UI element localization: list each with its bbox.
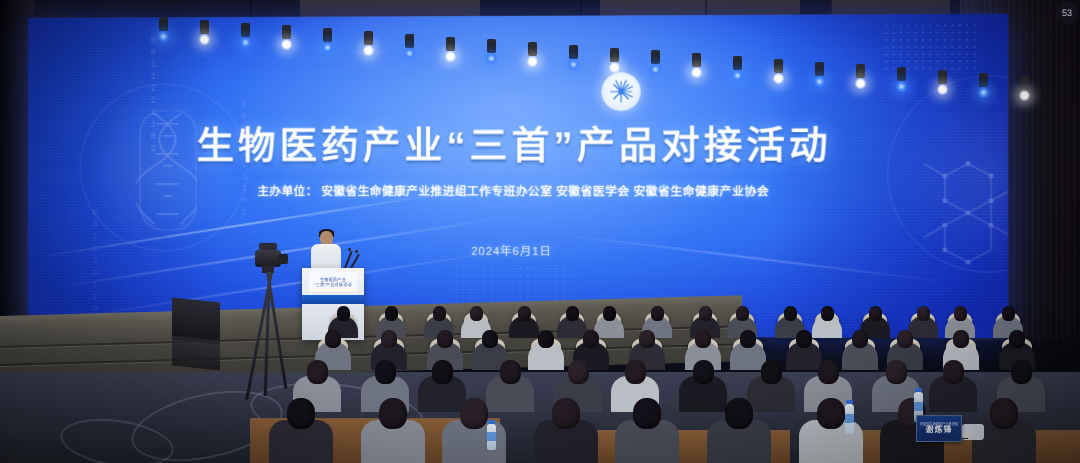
- audience-member-head: [566, 306, 579, 321]
- audience-member-head: [761, 360, 782, 384]
- audience-member-head: [639, 330, 655, 348]
- audience-member-head: [552, 398, 580, 429]
- audience-member-head: [287, 398, 315, 429]
- stage-light-blue: [977, 86, 990, 99]
- stage-light-fixture: [569, 45, 578, 59]
- stage-light-white: [936, 83, 949, 96]
- decor-binary-left-3: 0011221102: [90, 208, 100, 328]
- audience-member-head: [433, 306, 446, 321]
- stage-light-fixture: [159, 17, 168, 31]
- stage-light-white: [526, 55, 539, 68]
- stage-light-blue: [239, 36, 252, 49]
- audience-member-head: [953, 330, 969, 348]
- conference-photo-scene: 0011221102 0011221102 0011221102: [0, 0, 1080, 463]
- audience-member-head: [1011, 360, 1032, 384]
- audience-member-head: [603, 306, 616, 321]
- stage-light-fixture: [897, 67, 906, 81]
- audience-member-head: [943, 360, 964, 384]
- audience-member-head: [1009, 330, 1025, 348]
- audience-member-head: [699, 306, 712, 321]
- audience-member-head: [337, 306, 350, 321]
- stage-light-white: [444, 50, 457, 63]
- audience-member-head: [886, 360, 907, 384]
- placard-name: 谢炼锋: [926, 426, 953, 434]
- audience-member-head: [852, 330, 868, 348]
- stage-light-fixture: [651, 50, 660, 64]
- audience-member-head: [518, 306, 531, 321]
- audience-member-head: [821, 306, 834, 321]
- audience-member-head: [538, 330, 554, 348]
- audience-member-head: [725, 398, 753, 429]
- audience-member-head: [740, 330, 756, 348]
- stage-light-fixture: [528, 42, 537, 56]
- audience-member-head: [625, 360, 646, 384]
- stage-light-fixture: [856, 64, 865, 78]
- stage-light-fixture: [323, 28, 332, 42]
- audience-member-head: [307, 360, 328, 384]
- stage-light-blue: [567, 58, 580, 71]
- audience-member-head: [796, 330, 812, 348]
- audience-member-head: [385, 306, 398, 321]
- audience-member-head: [1002, 306, 1015, 321]
- audience-member-head: [695, 330, 711, 348]
- audience-member-head: [379, 398, 407, 429]
- stage-light-fixture: [774, 59, 783, 73]
- audience-member-head: [693, 360, 714, 384]
- audience-member-head: [784, 306, 797, 321]
- stage-light-white: [1018, 89, 1031, 102]
- stage-light-fixture: [979, 73, 988, 87]
- name-placard: 安徽省生命健康产业推进组 谢炼锋: [916, 415, 962, 442]
- watermark-text: 53: [1062, 8, 1072, 18]
- audience-member-head: [990, 398, 1018, 429]
- audience-member-head: [568, 360, 589, 384]
- audience-member-head: [470, 306, 483, 321]
- audience-member-head: [583, 330, 599, 348]
- stage-light-white: [362, 44, 375, 57]
- event-organizers: 主办单位： 安徽省生命健康产业推进组工作专班办公室 安徽省医学会 安徽省生命健康…: [28, 183, 1008, 200]
- audience-member-head: [869, 306, 882, 321]
- audience-member-head: [897, 330, 913, 348]
- camera-lens: [278, 254, 288, 264]
- bottle-label: [845, 414, 854, 423]
- stage-light-fixture: [733, 56, 742, 70]
- audience-member-head: [437, 330, 453, 348]
- bottle-cap: [846, 400, 853, 404]
- stage-light-fixture: [364, 31, 373, 45]
- podium-sign-line2: “三首”产品对接活动: [314, 283, 352, 287]
- audience-member-head: [482, 330, 498, 348]
- audience-member-head: [500, 360, 521, 384]
- stage-light-white: [198, 33, 211, 46]
- audience-member-head: [736, 306, 749, 321]
- stage-light-blue: [403, 47, 416, 60]
- stage-light-white: [608, 61, 621, 74]
- stage-light-blue: [731, 69, 744, 82]
- podium-sign-line1: 生物医药产业: [320, 278, 346, 282]
- stage-light-fixture: [1020, 76, 1029, 90]
- stage-light-fixture: [610, 48, 619, 62]
- audience-member-head: [460, 398, 488, 429]
- stage-light-fixture: [200, 20, 209, 34]
- audience-member-head: [432, 360, 453, 384]
- stage-light-fixture: [405, 34, 414, 48]
- radiating-cell-logo-icon: [608, 78, 635, 104]
- stage-light-blue: [813, 75, 826, 88]
- bottle-cap: [488, 420, 495, 424]
- audience-member-head: [375, 360, 396, 384]
- audience-member-head: [381, 330, 397, 348]
- audience-member-head: [818, 360, 839, 384]
- stage-light-fixture: [487, 39, 496, 53]
- bottle-label: [487, 432, 496, 441]
- event-logo: [601, 72, 640, 111]
- camera-lens-hood: [259, 243, 277, 250]
- stage-light-fixture: [446, 37, 455, 51]
- bottle-label: [914, 402, 923, 411]
- event-date: 2024年6月1日: [28, 242, 1008, 260]
- stage-light-white: [772, 72, 785, 85]
- stage-light-fixture: [815, 62, 824, 76]
- audience-member-head: [651, 306, 664, 321]
- stage-light-fixture: [241, 23, 250, 37]
- microphone-head: [348, 248, 351, 251]
- bottle-cap: [915, 388, 922, 392]
- audience-member-head: [633, 398, 661, 429]
- decor-dotgrid-right: [883, 22, 977, 69]
- podium-accent-band: [302, 295, 364, 304]
- stage-light-fixture: [282, 25, 291, 39]
- stage-monitor-speaker-base: [172, 335, 220, 370]
- podium-sign: 生物医药产业 “三首”产品对接活动: [309, 272, 357, 292]
- led-backdrop-screen: 0011221102 0011221102 0011221102: [28, 14, 1008, 338]
- audience-member-head: [325, 330, 341, 348]
- stage-light-fixture: [692, 53, 701, 67]
- stage-light-blue: [157, 30, 170, 43]
- stage-light-fixture: [938, 70, 947, 84]
- microphone-head: [355, 250, 358, 253]
- audience-member-head: [954, 306, 967, 321]
- audience-member-head: [917, 306, 930, 321]
- watermark-badge: 53: [1056, 2, 1078, 24]
- audience-member-head: [817, 398, 845, 429]
- event-title: 生物医药产业“三首”产品对接活动: [28, 114, 1008, 170]
